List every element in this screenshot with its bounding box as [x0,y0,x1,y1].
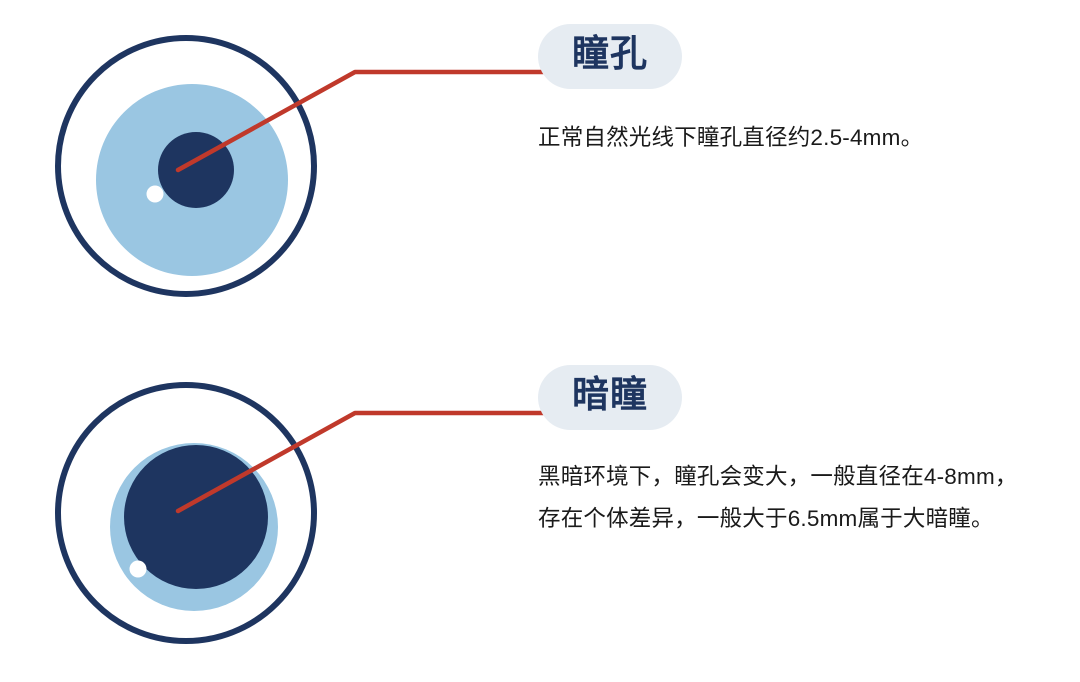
eye-highlight-icon [130,561,147,578]
description-pupil: 正常自然光线下瞳孔直径约2.5-4mm。 [538,117,1038,159]
badge-dark-pupil: 暗瞳 [538,365,682,430]
text-column-pupil: 瞳孔 正常自然光线下瞳孔直径约2.5-4mm。 [538,24,1058,159]
text-column-dark-pupil: 暗瞳 黑暗环境下，瞳孔会变大，一般直径在4-8mm，存在个体差异，一般大于6.5… [538,365,1058,540]
description-dark-pupil: 黑暗环境下，瞳孔会变大，一般直径在4-8mm，存在个体差异，一般大于6.5mm属… [538,456,1038,540]
eye-highlight-icon [147,186,164,203]
section-dark-pupil: 暗瞳 黑暗环境下，瞳孔会变大，一般直径在4-8mm，存在个体差异，一般大于6.5… [0,341,1080,682]
pupil-icon [158,132,234,208]
eye-diagram-dark-adapted [48,357,338,657]
eye-diagram-normal-light [48,16,338,316]
badge-pupil: 瞳孔 [538,24,682,89]
section-pupil: 瞳孔 正常自然光线下瞳孔直径约2.5-4mm。 [0,0,1080,341]
infographic-root: 瞳孔 正常自然光线下瞳孔直径约2.5-4mm。 暗瞳 黑暗环 [0,0,1080,682]
